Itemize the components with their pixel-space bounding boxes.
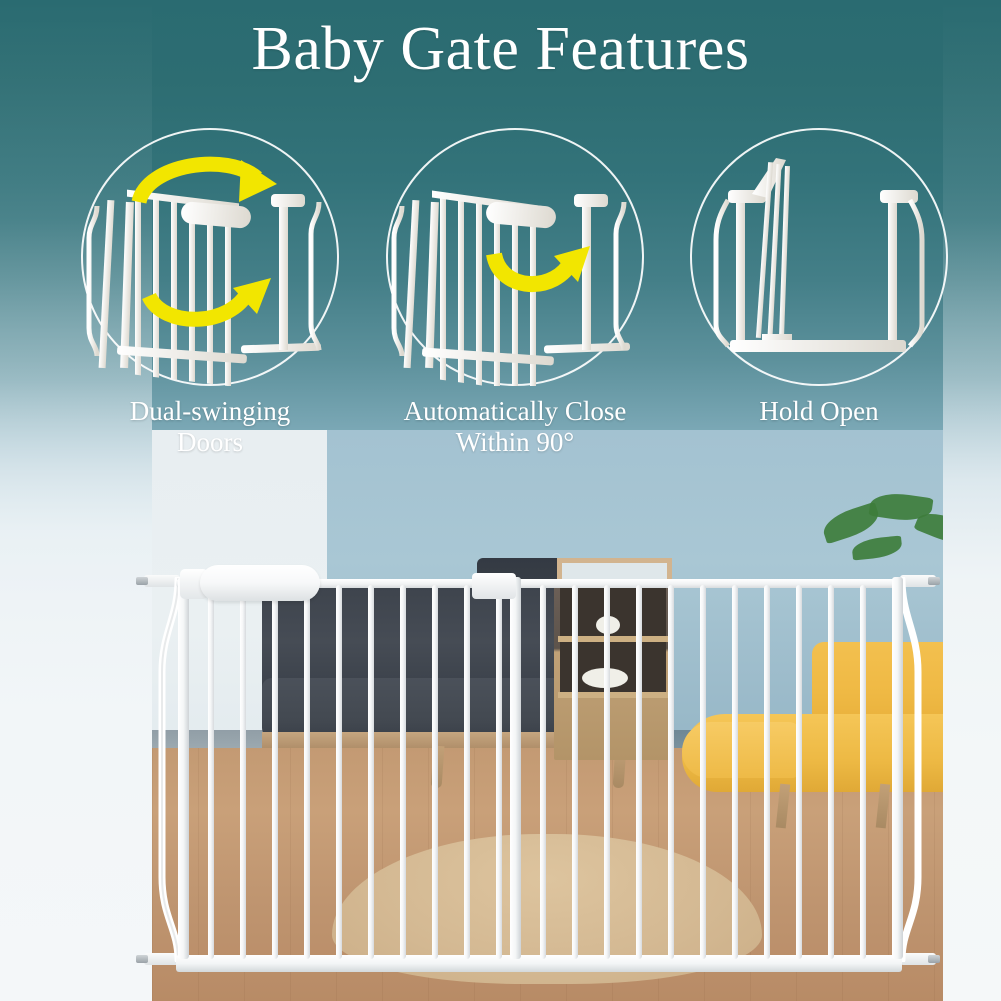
gate-bar xyxy=(700,585,706,959)
mount-screw xyxy=(928,955,940,963)
gate-bar xyxy=(400,585,406,959)
mount-screw xyxy=(136,577,148,585)
gate-hinge[interactable] xyxy=(472,573,516,599)
feature-label-automatically-close: Automatically Close Within 90° xyxy=(345,396,685,458)
feature-hold-open: Hold Open xyxy=(690,128,948,386)
gate-bar xyxy=(860,585,866,959)
gate-bar xyxy=(796,585,802,959)
gate-auto-close-icon xyxy=(386,128,644,386)
gate-bar xyxy=(304,585,310,959)
gate-bottom-rail xyxy=(176,955,902,972)
gate-bar xyxy=(272,585,278,959)
gate-bar xyxy=(572,585,578,959)
mount-screw xyxy=(136,955,148,963)
gate-bar xyxy=(828,585,834,959)
feature-label-line2: Within 90° xyxy=(456,427,574,457)
gate-bar xyxy=(764,585,770,959)
gate-bar xyxy=(240,585,246,959)
gate-hold-open-icon xyxy=(690,128,948,386)
baby-safety-gate xyxy=(140,555,940,990)
gate-bar xyxy=(432,585,438,959)
feature-label-hold-open: Hold Open xyxy=(649,396,989,427)
gate-post-center xyxy=(510,577,521,959)
feature-label-line1: Hold Open xyxy=(759,396,878,426)
page-title: Baby Gate Features xyxy=(0,14,1001,84)
gate-dual-swing-icon xyxy=(81,128,339,386)
mount-screw xyxy=(928,577,940,585)
feature-label-line1: Automatically Close xyxy=(404,396,627,426)
gate-bar xyxy=(732,585,738,959)
feature-label-line1: Dual-swinging xyxy=(130,396,290,426)
infographic-canvas: Baby Gate Features xyxy=(0,0,1001,1001)
gate-bar xyxy=(464,585,470,959)
gate-bar xyxy=(208,585,214,959)
gate-bar xyxy=(368,585,374,959)
gate-handle[interactable] xyxy=(200,565,320,601)
background-right-panel xyxy=(943,0,1001,1001)
gate-post-right xyxy=(892,577,903,959)
feature-label-dual-swinging-doors: Dual-swinging Doors xyxy=(40,396,380,458)
gate-bar xyxy=(336,585,342,959)
gate-bar xyxy=(668,585,674,959)
feature-automatically-close: Automatically Close Within 90° xyxy=(386,128,644,386)
gate-bar xyxy=(540,585,546,959)
gate-bar xyxy=(636,585,642,959)
gate-post-left xyxy=(178,577,189,959)
feature-dual-swinging-doors: Dual-swinging Doors xyxy=(81,128,339,386)
gate-bar xyxy=(604,585,610,959)
gate-bar xyxy=(496,585,502,959)
feature-label-line2: Doors xyxy=(177,427,243,457)
auto-close-arrow xyxy=(494,246,590,284)
